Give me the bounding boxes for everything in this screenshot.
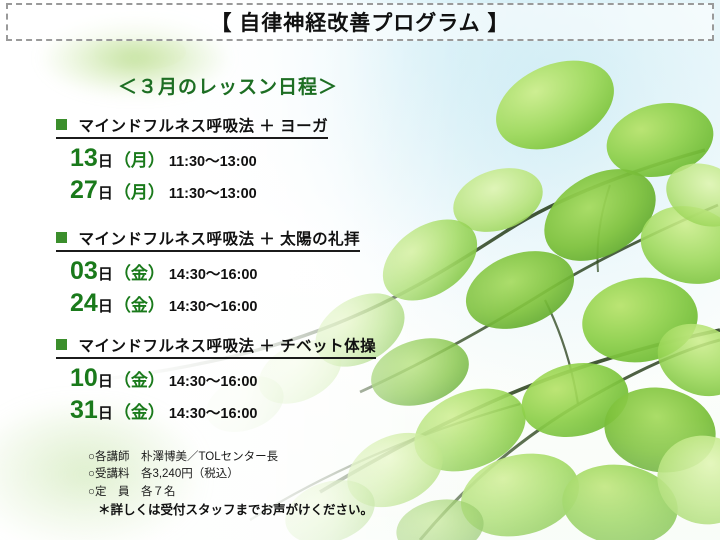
date-day-unit: 日: [98, 153, 113, 170]
square-bullet-icon: [56, 119, 67, 130]
section-header: マインドフルネス呼吸法 ＋ チベット体操: [56, 334, 376, 359]
date-weekday: （金）: [114, 296, 165, 315]
date-time-range: 14:30〜16:00: [169, 406, 258, 422]
section-header: マインドフルネス呼吸法 ＋ ヨーガ: [56, 114, 328, 139]
schedule-subtitle: ＜３月のレッスン日程＞: [118, 72, 338, 99]
date-day-unit: 日: [98, 298, 113, 315]
note-instructor: ○各講師 朴澤博美／TOLセンター長: [88, 449, 278, 466]
schedule-row: 27日（月）11:30〜13:00: [70, 177, 460, 203]
schedule-row: 10日（金）14:30〜16:00: [70, 365, 460, 391]
date-day-number: 03: [70, 257, 98, 285]
date-time-range: 11:30〜13:00: [169, 154, 257, 170]
date-day-unit: 日: [98, 185, 113, 202]
notes-block: ○各講師 朴澤博美／TOLセンター長 ○受講料 各3,240円（税込） ○定 員…: [88, 449, 278, 501]
date-day-number: 27: [70, 176, 98, 204]
schedule-row: 24日（金）14:30〜16:00: [70, 290, 460, 316]
date-weekday: （金）: [114, 371, 165, 390]
date-day-unit: 日: [98, 373, 113, 390]
section-title: マインドフルネス呼吸法 ＋ チベット体操: [78, 338, 376, 355]
page-title: 【 自律神経改善プログラム 】: [210, 7, 509, 37]
date-day-number: 24: [70, 289, 98, 317]
schedule-row: 13日（月）11:30〜13:00: [70, 145, 460, 171]
date-weekday: （金）: [114, 403, 165, 422]
square-bullet-icon: [56, 339, 67, 350]
date-time-range: 11:30〜13:00: [169, 186, 257, 202]
date-day-number: 31: [70, 396, 98, 424]
date-weekday: （金）: [114, 264, 165, 283]
section-header: マインドフルネス呼吸法 ＋ 太陽の礼拝: [56, 227, 360, 252]
date-time-range: 14:30〜16:00: [169, 267, 258, 283]
schedule-row: 03日（金）14:30〜16:00: [70, 258, 460, 284]
date-weekday: （月）: [114, 183, 165, 202]
slide-canvas: 【 自律神経改善プログラム 】 ＜３月のレッスン日程＞ マインドフルネス呼吸法 …: [0, 0, 720, 540]
note-fee: ○受講料 各3,240円（税込）: [88, 466, 278, 483]
date-time-range: 14:30〜16:00: [169, 374, 258, 390]
date-weekday: （月）: [114, 151, 165, 170]
section-title: マインドフルネス呼吸法 ＋ 太陽の礼拝: [78, 231, 360, 248]
footnote-text: ＊詳しくは受付スタッフまでお声がけください。: [98, 499, 373, 518]
lesson-section: マインドフルネス呼吸法 ＋ チベット体操 10日（金）14:30〜16:00 3…: [0, 334, 460, 424]
date-day-unit: 日: [98, 266, 113, 283]
date-day-number: 13: [70, 144, 98, 172]
square-bullet-icon: [56, 232, 67, 243]
lesson-section: マインドフルネス呼吸法 ＋ ヨーガ 13日（月）11:30〜13:00 27日（…: [0, 114, 460, 204]
lesson-section: マインドフルネス呼吸法 ＋ 太陽の礼拝 03日（金）14:30〜16:00 24…: [0, 227, 460, 317]
section-title: マインドフルネス呼吸法 ＋ ヨーガ: [78, 118, 328, 135]
date-day-unit: 日: [98, 405, 113, 422]
date-day-number: 10: [70, 364, 98, 392]
title-box: 【 自律神経改善プログラム 】: [6, 3, 714, 41]
date-time-range: 14:30〜16:00: [169, 299, 258, 315]
schedule-row: 31日（金）14:30〜16:00: [70, 397, 460, 423]
